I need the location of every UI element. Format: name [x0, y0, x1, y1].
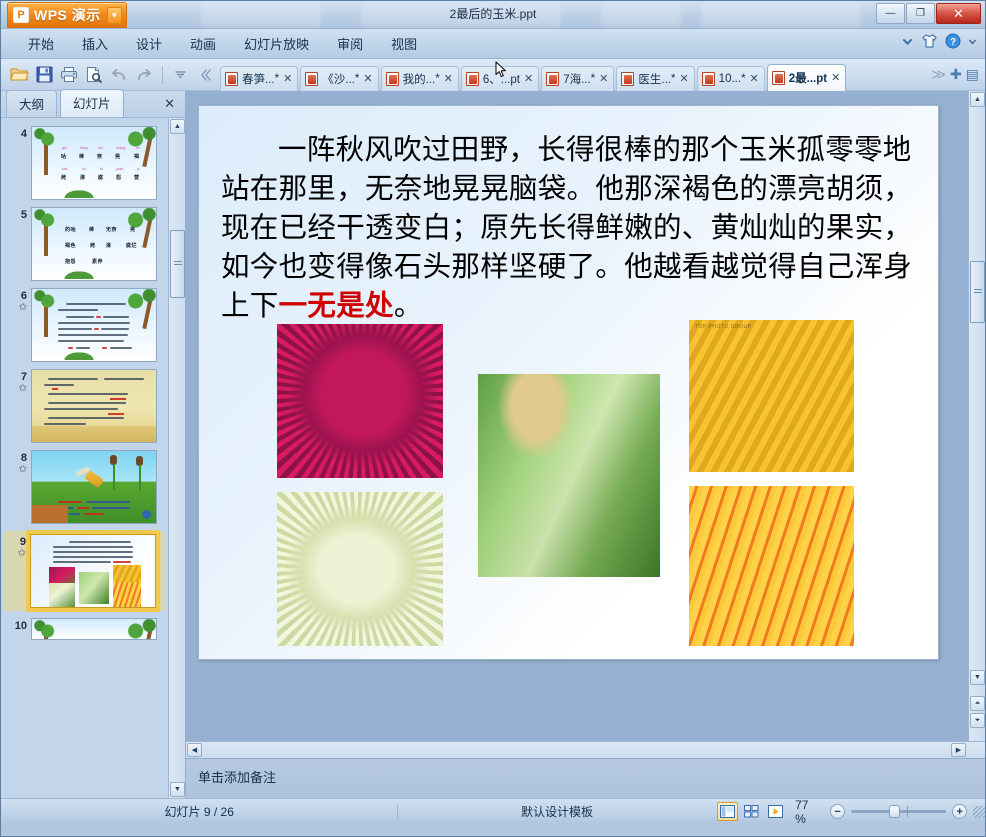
document-tab-close-icon[interactable]: ✕: [750, 72, 759, 85]
slide-scroll-down-button[interactable]: ▼: [970, 670, 985, 685]
skin-icon[interactable]: [921, 33, 938, 49]
menu-item-review[interactable]: 审阅: [324, 30, 376, 57]
workspace: 大纲 幻灯片 ✕ 4 guībàng: [1, 91, 985, 798]
thumbnail-meta: 10: [5, 618, 31, 632]
zoom-level-label: 77 %: [787, 799, 830, 824]
thumbnail-item-7[interactable]: 7 ✩: [5, 369, 165, 443]
save-icon[interactable]: [32, 63, 56, 87]
slide-vertical-scrollbar[interactable]: ▲ ▼ ⏶ ⏷: [968, 91, 985, 741]
status-bar: 幻灯片 9 / 26 默认设计模板 77 %: [1, 798, 985, 824]
title-bar: P WPS 演示 ▼ 2最后的玉米.ppt — ❐ ✕: [1, 1, 985, 29]
thumbnail-meta: 9 ✩: [4, 534, 30, 560]
thumbnail-number: 10: [5, 620, 27, 632]
presentation-file-icon: [386, 72, 399, 86]
next-slide-button[interactable]: ⏷: [970, 713, 985, 728]
slide-text-highlight: 一无是处: [279, 288, 394, 322]
thumbnail-list: 4 guībàng nàihuànghè 咕棒 奈晃褐 kǎolín fǔyuà…: [1, 118, 168, 798]
document-tab-modified-marker: *: [591, 73, 595, 85]
thumbnail-preview: guībàng nàihuànghè 咕棒 奈晃褐 kǎolín fǔyuàny…: [31, 126, 157, 200]
design-template-label: 默认设计模板: [398, 799, 715, 824]
minimize-button[interactable]: —: [876, 3, 905, 24]
document-tab-close-icon[interactable]: ✕: [679, 72, 688, 85]
slide-body-text[interactable]: 一阵秋风吹过田野，长得很棒的那个玉米孤零零地站在那里，无奈地晃晃脑袋。他那深褐色…: [221, 130, 921, 325]
mouse-cursor-icon: [495, 61, 507, 84]
document-tab-modified-marker: *: [741, 73, 745, 85]
slide-canvas: 一阵秋风吹过田野，长得很棒的那个玉米孤零零地站在那里，无奈地晃晃脑袋。他那深褐色…: [186, 91, 985, 741]
document-tab-modified-marker: *: [355, 73, 359, 85]
quick-access-toolbar: 春笋... * ✕ 《沙... * ✕ 我的... * ✕ 6、...pt ✕: [1, 59, 985, 91]
thumbnail-item-8[interactable]: 8 ✩: [5, 450, 165, 524]
slide-scroll-up-button[interactable]: ▲: [970, 92, 985, 107]
help-icon[interactable]: ?: [945, 33, 961, 49]
document-tab-label: 医生...: [638, 71, 671, 87]
presentation-file-icon: [466, 72, 479, 86]
document-tab-3[interactable]: 我的... * ✕: [381, 66, 459, 91]
thumbnail-preview: [31, 618, 157, 640]
document-tab-label: 10...: [719, 73, 741, 85]
document-tab-label: 7海...: [563, 71, 590, 87]
slide-scrollbar-thumb[interactable]: [970, 261, 985, 323]
thumbnail-preview: [31, 288, 157, 362]
document-tab-label: 春笋...: [242, 71, 275, 87]
previous-slide-button[interactable]: ⏶: [970, 696, 985, 711]
thumbnail-number: 9: [4, 536, 26, 548]
open-icon[interactable]: [7, 63, 31, 87]
document-tab-close-icon[interactable]: ✕: [363, 72, 372, 85]
svg-text:?: ?: [950, 37, 956, 48]
thumbnail-item-10[interactable]: 10: [5, 618, 165, 640]
toolbar-separator: [162, 66, 163, 84]
maximize-button[interactable]: ❐: [906, 3, 935, 24]
document-tab-close-icon[interactable]: ✕: [599, 72, 608, 85]
document-tab-modified-marker: *: [671, 73, 675, 85]
corn-orange-cob-photo[interactable]: [689, 486, 854, 646]
notes-placeholder: 单击添加备注: [198, 767, 985, 786]
presentation-file-icon: [772, 71, 785, 85]
customize-dropdown-icon[interactable]: [168, 63, 192, 87]
close-panel-icon[interactable]: ✕: [164, 96, 175, 112]
slide-scroll-left-button[interactable]: ◀: [187, 743, 202, 757]
thumbnail-scroll-up-button[interactable]: ▲: [170, 119, 185, 134]
presentation-file-icon: [225, 72, 238, 86]
thumbnail-number: 6: [5, 290, 27, 302]
print-preview-icon[interactable]: [82, 63, 106, 87]
thumbnail-scrollbar[interactable]: ▲ ▼: [168, 118, 185, 798]
menu-item-slideshow[interactable]: 幻灯片放映: [231, 30, 322, 57]
presentation-file-icon: [305, 72, 318, 86]
scrollbar-grip-icon: [174, 261, 182, 267]
print-icon[interactable]: [57, 63, 81, 87]
document-tab-7[interactable]: 10... * ✕: [697, 66, 765, 91]
slide-scroll-right-button[interactable]: ▶: [951, 743, 966, 757]
thumbnail-meta: 8 ✩: [5, 450, 31, 476]
slide-counter: 幻灯片 9 / 26: [1, 799, 397, 824]
redo-icon[interactable]: [132, 63, 156, 87]
slides-panel: 大纲 幻灯片 ✕ 4 guībàng: [1, 91, 186, 798]
thumbnail-meta: 5: [5, 207, 31, 221]
help-dropdown-icon[interactable]: [968, 37, 977, 46]
resize-grip-icon[interactable]: [973, 806, 985, 818]
tabs-overflow-icon[interactable]: ≫: [931, 66, 946, 83]
document-title: 2最后的玉米.ppt: [1, 5, 985, 22]
close-button[interactable]: ✕: [936, 3, 981, 24]
tab-list-icon[interactable]: ▤: [966, 66, 979, 83]
menu-item-insert[interactable]: 插入: [69, 30, 121, 57]
normal-view-button[interactable]: [717, 802, 739, 821]
slide-text-part-3: 。: [394, 289, 423, 322]
document-tab-close-icon[interactable]: ✕: [524, 72, 533, 85]
thumbnail-number: 5: [5, 209, 27, 221]
wps-presentation-window: P WPS 演示 ▼ 2最后的玉米.ppt — ❐ ✕ 开始 插入 设计 动画 …: [0, 0, 986, 837]
thumbnail-meta: 6 ✩: [5, 288, 31, 314]
thumbnail-number: 4: [5, 128, 27, 140]
slide-horizontal-scrollbar[interactable]: ◀ ▶: [186, 741, 985, 758]
thumbnail-number: 7: [5, 371, 27, 383]
presentation-file-icon: [621, 72, 634, 86]
animation-star-icon: ✩: [5, 383, 27, 395]
window-controls: — ❐ ✕: [876, 3, 981, 24]
slide-editing-area: 一阵秋风吹过田野，长得很棒的那个玉米孤零零地站在那里，无奈地晃晃脑袋。他那深褐色…: [186, 91, 985, 798]
tab-slides[interactable]: 幻灯片: [60, 89, 124, 117]
menu-item-view[interactable]: 视图: [378, 30, 430, 57]
slide-sorter-button[interactable]: [740, 802, 762, 821]
current-slide[interactable]: 一阵秋风吹过田野，长得很棒的那个玉米孤零零地站在那里，无奈地晃晃脑袋。他那深褐色…: [198, 105, 939, 660]
zoom-slider-tick: [907, 806, 908, 817]
document-tab-close-icon[interactable]: ✕: [831, 71, 840, 84]
scrollbar-grip-icon: [974, 289, 982, 295]
document-tab-1[interactable]: 春笋... * ✕: [220, 66, 298, 91]
thumbnail-preview: [31, 369, 157, 443]
collapse-ribbon-icon[interactable]: [193, 63, 217, 87]
notes-pane[interactable]: 单击添加备注: [186, 758, 985, 798]
menu-item-animation[interactable]: 动画: [177, 30, 229, 57]
thumbnail-item-4[interactable]: 4 guībàng nàihuànghè 咕棒 奈晃褐 kǎolín fǔyuà…: [5, 126, 165, 200]
thumbnail-preview: 的咕棒 无奈晃 褐色烤 淋腐烂 抱怨素养: [31, 207, 157, 281]
thumbnail-scrollbar-thumb[interactable]: [170, 230, 185, 298]
thumbnail-preview-selected: [30, 534, 156, 608]
slideshow-button[interactable]: [764, 802, 786, 821]
presentation-file-icon: [702, 72, 715, 86]
tab-outline[interactable]: 大纲: [6, 90, 57, 117]
thumbnail-scroll-down-button[interactable]: ▼: [170, 782, 185, 797]
slides-panel-tabs: 大纲 幻灯片 ✕: [1, 91, 185, 117]
document-tab-strip: 春笋... * ✕ 《沙... * ✕ 我的... * ✕ 6、...pt ✕: [218, 59, 925, 91]
thumbnail-item-6[interactable]: 6 ✩: [5, 288, 165, 362]
zoom-slider[interactable]: [851, 810, 946, 813]
zoom-slider-knob[interactable]: [889, 805, 900, 818]
new-tab-icon[interactable]: ✚: [950, 66, 962, 83]
document-tab-label: 我的...: [403, 71, 436, 87]
animation-star-icon: ✩: [5, 464, 27, 476]
document-tab-label: 2最...pt: [789, 70, 827, 86]
document-tab-label: 《沙...: [322, 71, 355, 87]
tab-strip-tools: ≫ ✚ ▤: [925, 66, 985, 83]
thumbnail-item-9[interactable]: 9 ✩: [4, 531, 165, 611]
chevron-down-icon[interactable]: [901, 35, 914, 48]
document-tab-8-active[interactable]: 2最...pt ✕: [767, 64, 847, 91]
thumbnail-number: 8: [5, 452, 27, 464]
document-tab-modified-marker: *: [435, 73, 439, 85]
animation-star-icon: ✩: [4, 548, 26, 560]
document-tab-5[interactable]: 7海... * ✕: [541, 66, 614, 91]
corn-red-silk-photo[interactable]: [277, 324, 443, 478]
corn-white-silk-photo[interactable]: [277, 492, 443, 646]
document-tab-2[interactable]: 《沙... * ✕: [300, 66, 378, 91]
corn-yellow-cob-photo[interactable]: TOP PHOTO GROUP: [689, 320, 854, 472]
document-tab-6[interactable]: 医生... * ✕: [616, 66, 694, 91]
menu-bar-right-tools: ?: [901, 33, 977, 49]
zoom-in-button[interactable]: +: [952, 804, 967, 819]
menu-item-start[interactable]: 开始: [15, 30, 67, 57]
thumbnail-item-5[interactable]: 5 的咕棒 无奈晃 褐色烤 淋腐烂 抱怨素养: [5, 207, 165, 281]
thumbnail-meta: 7 ✩: [5, 369, 31, 395]
photo-watermark: TOP PHOTO GROUP: [695, 324, 751, 330]
zoom-out-button[interactable]: −: [830, 804, 845, 819]
animation-star-icon: ✩: [5, 302, 27, 314]
thumbnail-meta: 4: [5, 126, 31, 140]
document-tab-modified-marker: *: [275, 73, 279, 85]
document-tab-close-icon[interactable]: ✕: [444, 72, 453, 85]
corn-husk-photo[interactable]: [478, 374, 660, 577]
menu-bar: 开始 插入 设计 动画 幻灯片放映 审阅 视图 ?: [1, 29, 985, 59]
thumbnail-preview: [31, 450, 157, 524]
document-tab-close-icon[interactable]: ✕: [283, 72, 292, 85]
thumbnail-scroll-area: 4 guībàng nàihuànghè 咕棒 奈晃褐 kǎolín fǔyuà…: [1, 117, 185, 798]
presentation-file-icon: [546, 72, 559, 86]
undo-icon[interactable]: [107, 63, 131, 87]
menu-item-design[interactable]: 设计: [123, 30, 175, 57]
